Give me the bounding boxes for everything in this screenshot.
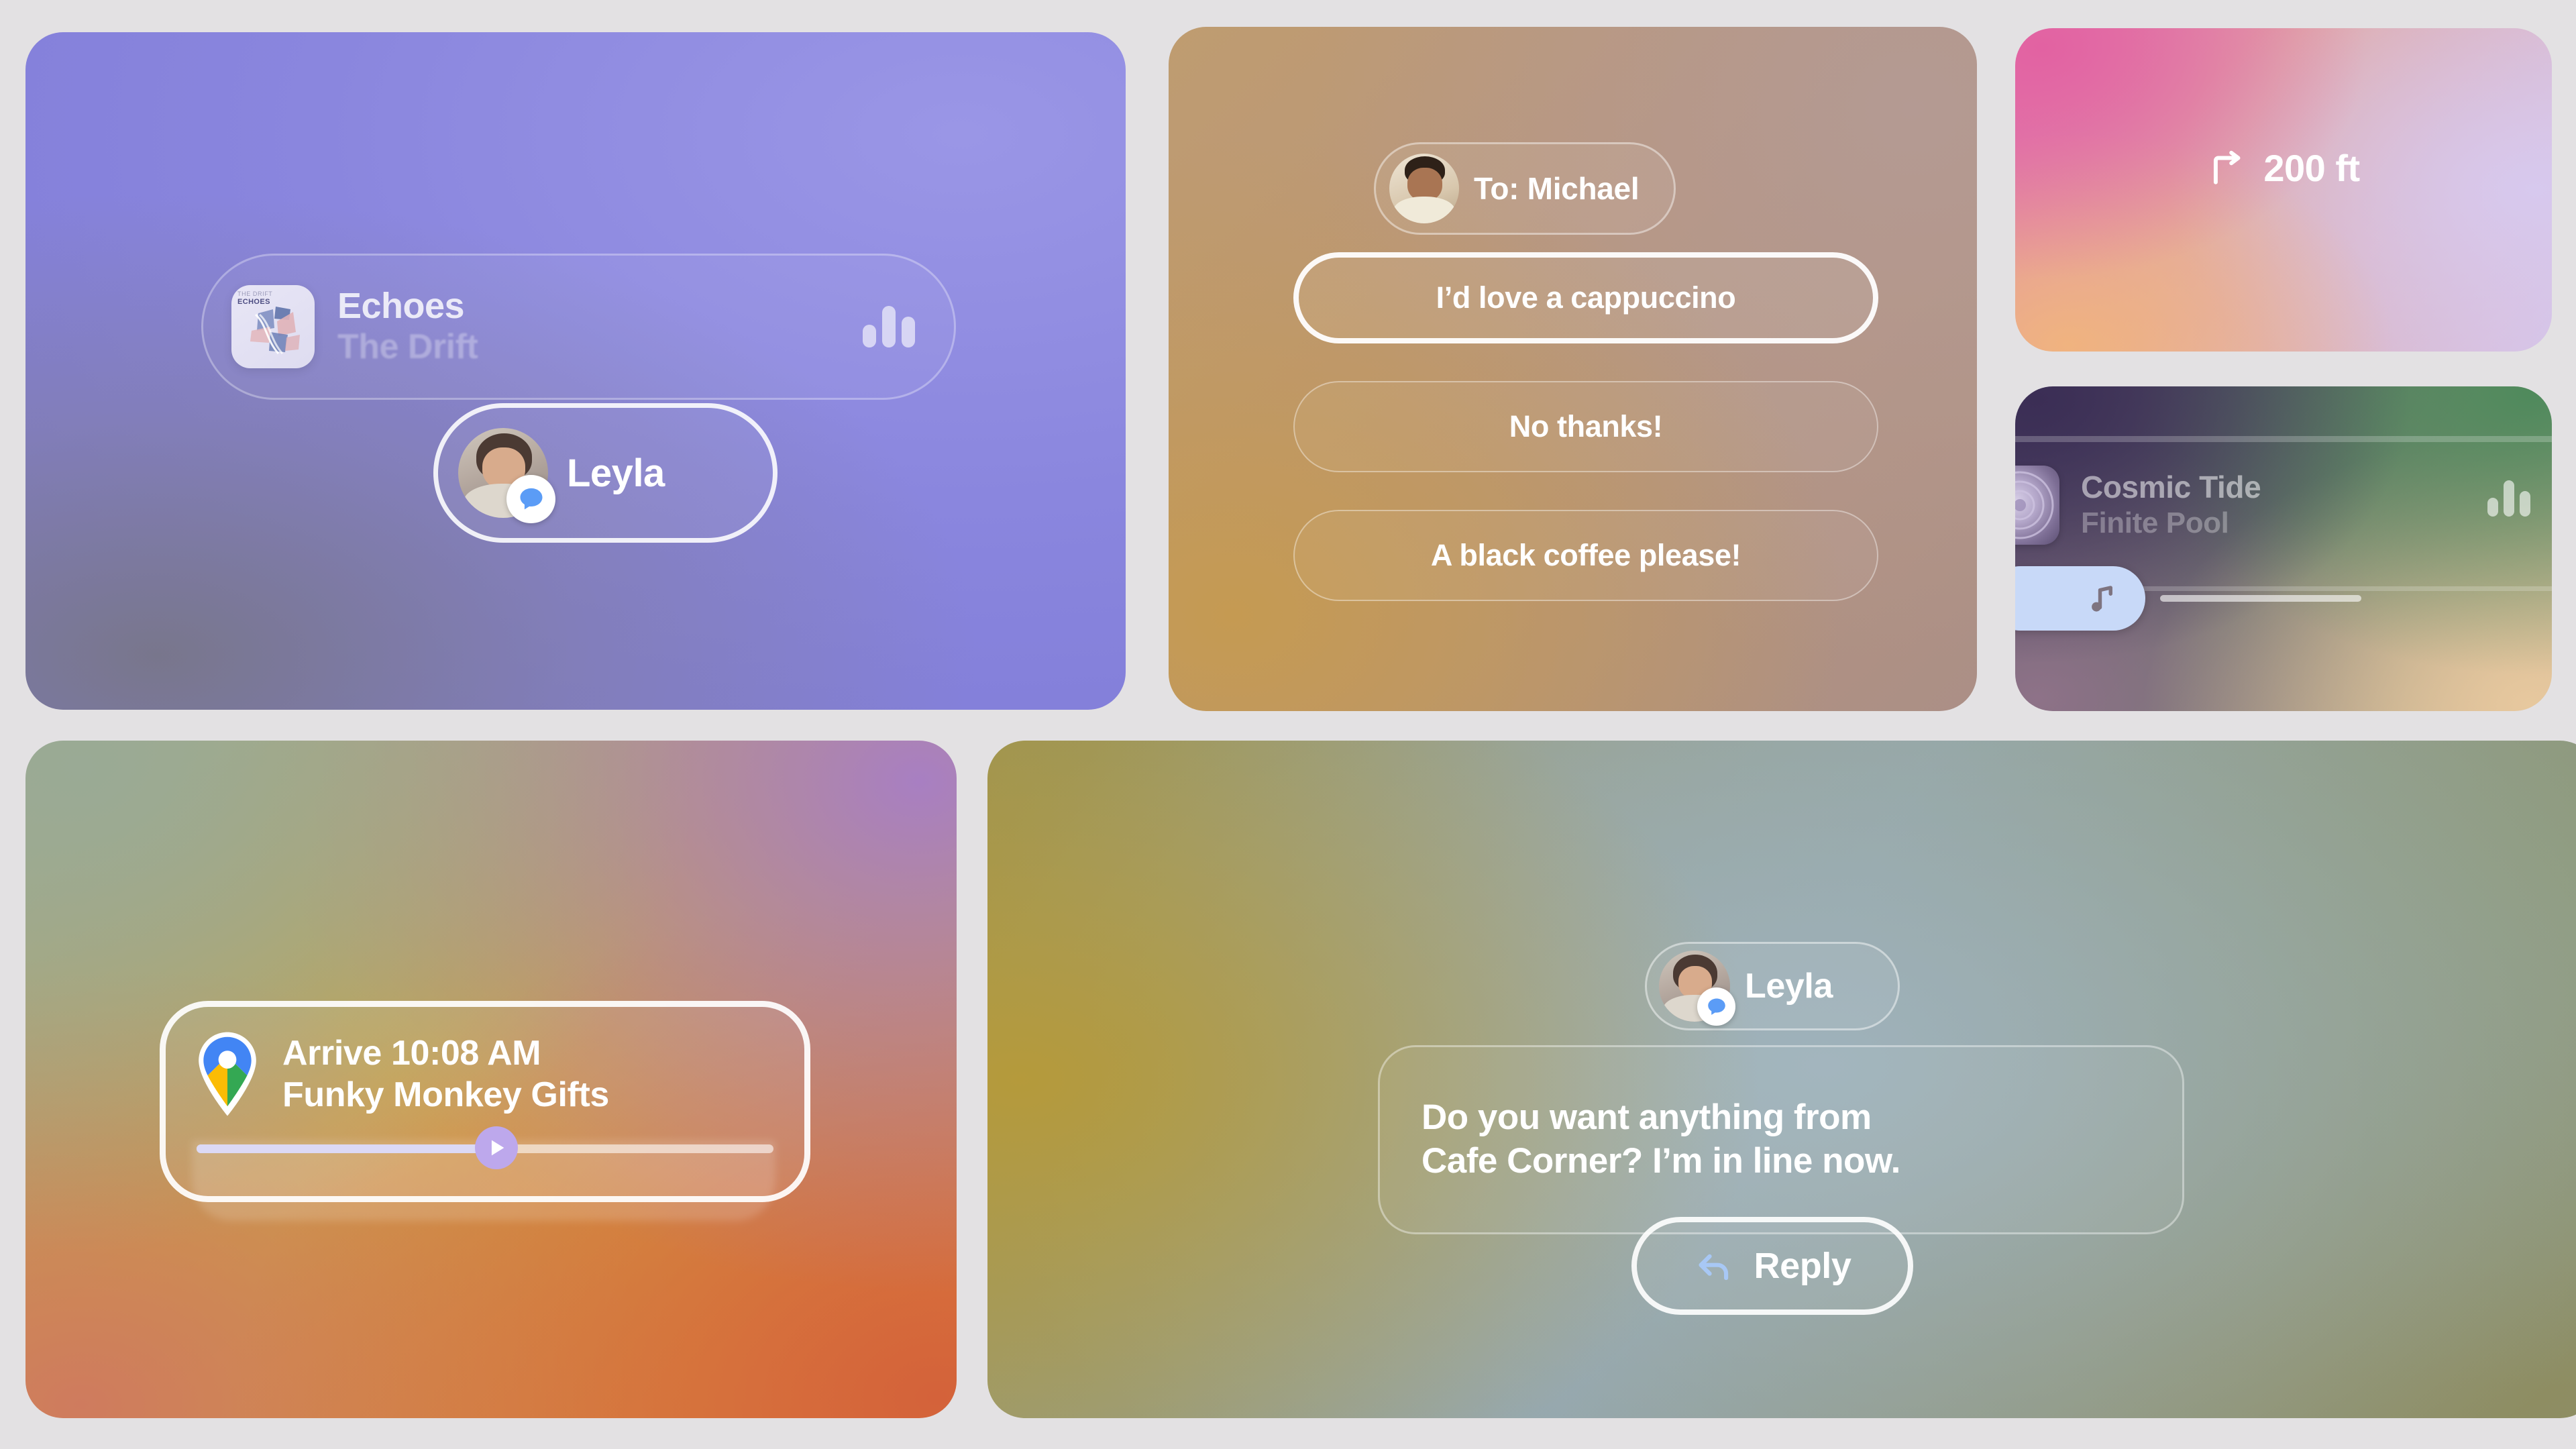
reply-option-label: A black coffee please! bbox=[1431, 538, 1741, 573]
reply-option-1[interactable]: No thanks! bbox=[1293, 381, 1878, 472]
equalizer-icon bbox=[863, 306, 915, 347]
route-progress-slider[interactable] bbox=[197, 1140, 773, 1156]
contact-name: Leyla bbox=[567, 451, 665, 496]
messages-bubble-icon bbox=[1697, 987, 1735, 1026]
reply-arrow-icon bbox=[1693, 1245, 1735, 1287]
equalizer-icon bbox=[2487, 480, 2530, 517]
google-maps-pin-icon bbox=[191, 1030, 264, 1118]
navigation-distance-row: 200 ft bbox=[2015, 146, 2552, 190]
contact-chip-leyla[interactable]: Leyla bbox=[433, 403, 777, 543]
track-title: Echoes bbox=[337, 287, 478, 325]
navigation-distance-card[interactable]: 200 ft bbox=[2015, 28, 2552, 352]
avatar bbox=[458, 428, 548, 518]
arrival-eta: Arrive 10:08 AM bbox=[282, 1034, 609, 1073]
recipient-chip[interactable]: To: Michael bbox=[1374, 142, 1676, 235]
music-scrubber-track[interactable] bbox=[2160, 595, 2361, 602]
avatar bbox=[1659, 951, 1730, 1022]
album-art-shapes bbox=[231, 285, 315, 368]
music-scrubber-thumb[interactable] bbox=[2015, 566, 2145, 631]
cosmic-tide-row: Cosmic Tide Finite Pool bbox=[2015, 466, 2552, 545]
navigation-distance-value: 200 ft bbox=[2263, 146, 2359, 190]
reply-option-2[interactable]: A black coffee please! bbox=[1293, 510, 1878, 601]
message-body: Do you want anything from Cafe Corner? I… bbox=[1421, 1096, 1900, 1183]
divider bbox=[2015, 436, 2552, 442]
route-progress-thumb[interactable] bbox=[475, 1126, 518, 1169]
cosmic-tide-card[interactable]: Cosmic Tide Finite Pool bbox=[2015, 386, 2552, 711]
turn-right-icon bbox=[2207, 148, 2249, 189]
maps-arrival-card[interactable]: Arrive 10:08 AM Funky Monkey Gifts 8:32 bbox=[25, 741, 957, 1418]
messages-bubble-icon bbox=[506, 475, 555, 523]
track-artist: Finite Pool bbox=[2081, 507, 2261, 539]
cosmic-tide-text: Cosmic Tide Finite Pool bbox=[2081, 471, 2261, 539]
reply-suggestions-card[interactable]: To: Michael I’d love a cappuccino No tha… bbox=[1169, 27, 1977, 711]
route-progress-fill bbox=[197, 1144, 496, 1153]
music-note-icon bbox=[2085, 580, 2121, 616]
message-body-line1: Do you want anything from bbox=[1421, 1096, 1900, 1140]
message-card[interactable]: Leyla Do you want anything from Cafe Cor… bbox=[987, 741, 2576, 1418]
now-playing-card[interactable]: THE DRIFT ECHOES Echoes The Drift bbox=[25, 32, 1126, 710]
album-art-echoes: THE DRIFT ECHOES bbox=[231, 285, 315, 368]
avatar bbox=[1389, 154, 1459, 223]
maps-text: Arrive 10:08 AM Funky Monkey Gifts bbox=[282, 1030, 609, 1114]
music-scrubber[interactable] bbox=[2015, 566, 2361, 631]
reply-button[interactable]: Reply bbox=[1631, 1217, 1913, 1315]
message-bubble[interactable]: Do you want anything from Cafe Corner? I… bbox=[1378, 1045, 2184, 1234]
reply-option-0[interactable]: I’d love a cappuccino bbox=[1293, 252, 1878, 343]
widget-board: THE DRIFT ECHOES Echoes The Drift bbox=[0, 0, 2576, 1449]
now-playing-pill[interactable]: THE DRIFT ECHOES Echoes The Drift bbox=[201, 254, 956, 400]
reply-option-label: No thanks! bbox=[1509, 409, 1663, 444]
recipient-label: To: Michael bbox=[1474, 170, 1639, 207]
album-art-swirl bbox=[2015, 466, 2059, 545]
now-playing-text: Echoes The Drift bbox=[337, 287, 478, 366]
destination-name: Funky Monkey Gifts bbox=[282, 1075, 609, 1114]
message-body-line2: Cafe Corner? I’m in line now. bbox=[1421, 1140, 1900, 1183]
navigation-arrow-icon bbox=[485, 1136, 508, 1159]
message-sender-name: Leyla bbox=[1745, 966, 1833, 1006]
reply-option-label: I’d love a cappuccino bbox=[1436, 280, 1736, 315]
track-title: Cosmic Tide bbox=[2081, 471, 2261, 504]
maps-navigation-panel[interactable]: Arrive 10:08 AM Funky Monkey Gifts bbox=[160, 1001, 810, 1202]
maps-header: Arrive 10:08 AM Funky Monkey Gifts bbox=[191, 1030, 609, 1118]
track-artist: The Drift bbox=[337, 328, 478, 366]
message-sender-chip[interactable]: Leyla bbox=[1645, 942, 1900, 1030]
reply-button-label: Reply bbox=[1754, 1245, 1851, 1287]
